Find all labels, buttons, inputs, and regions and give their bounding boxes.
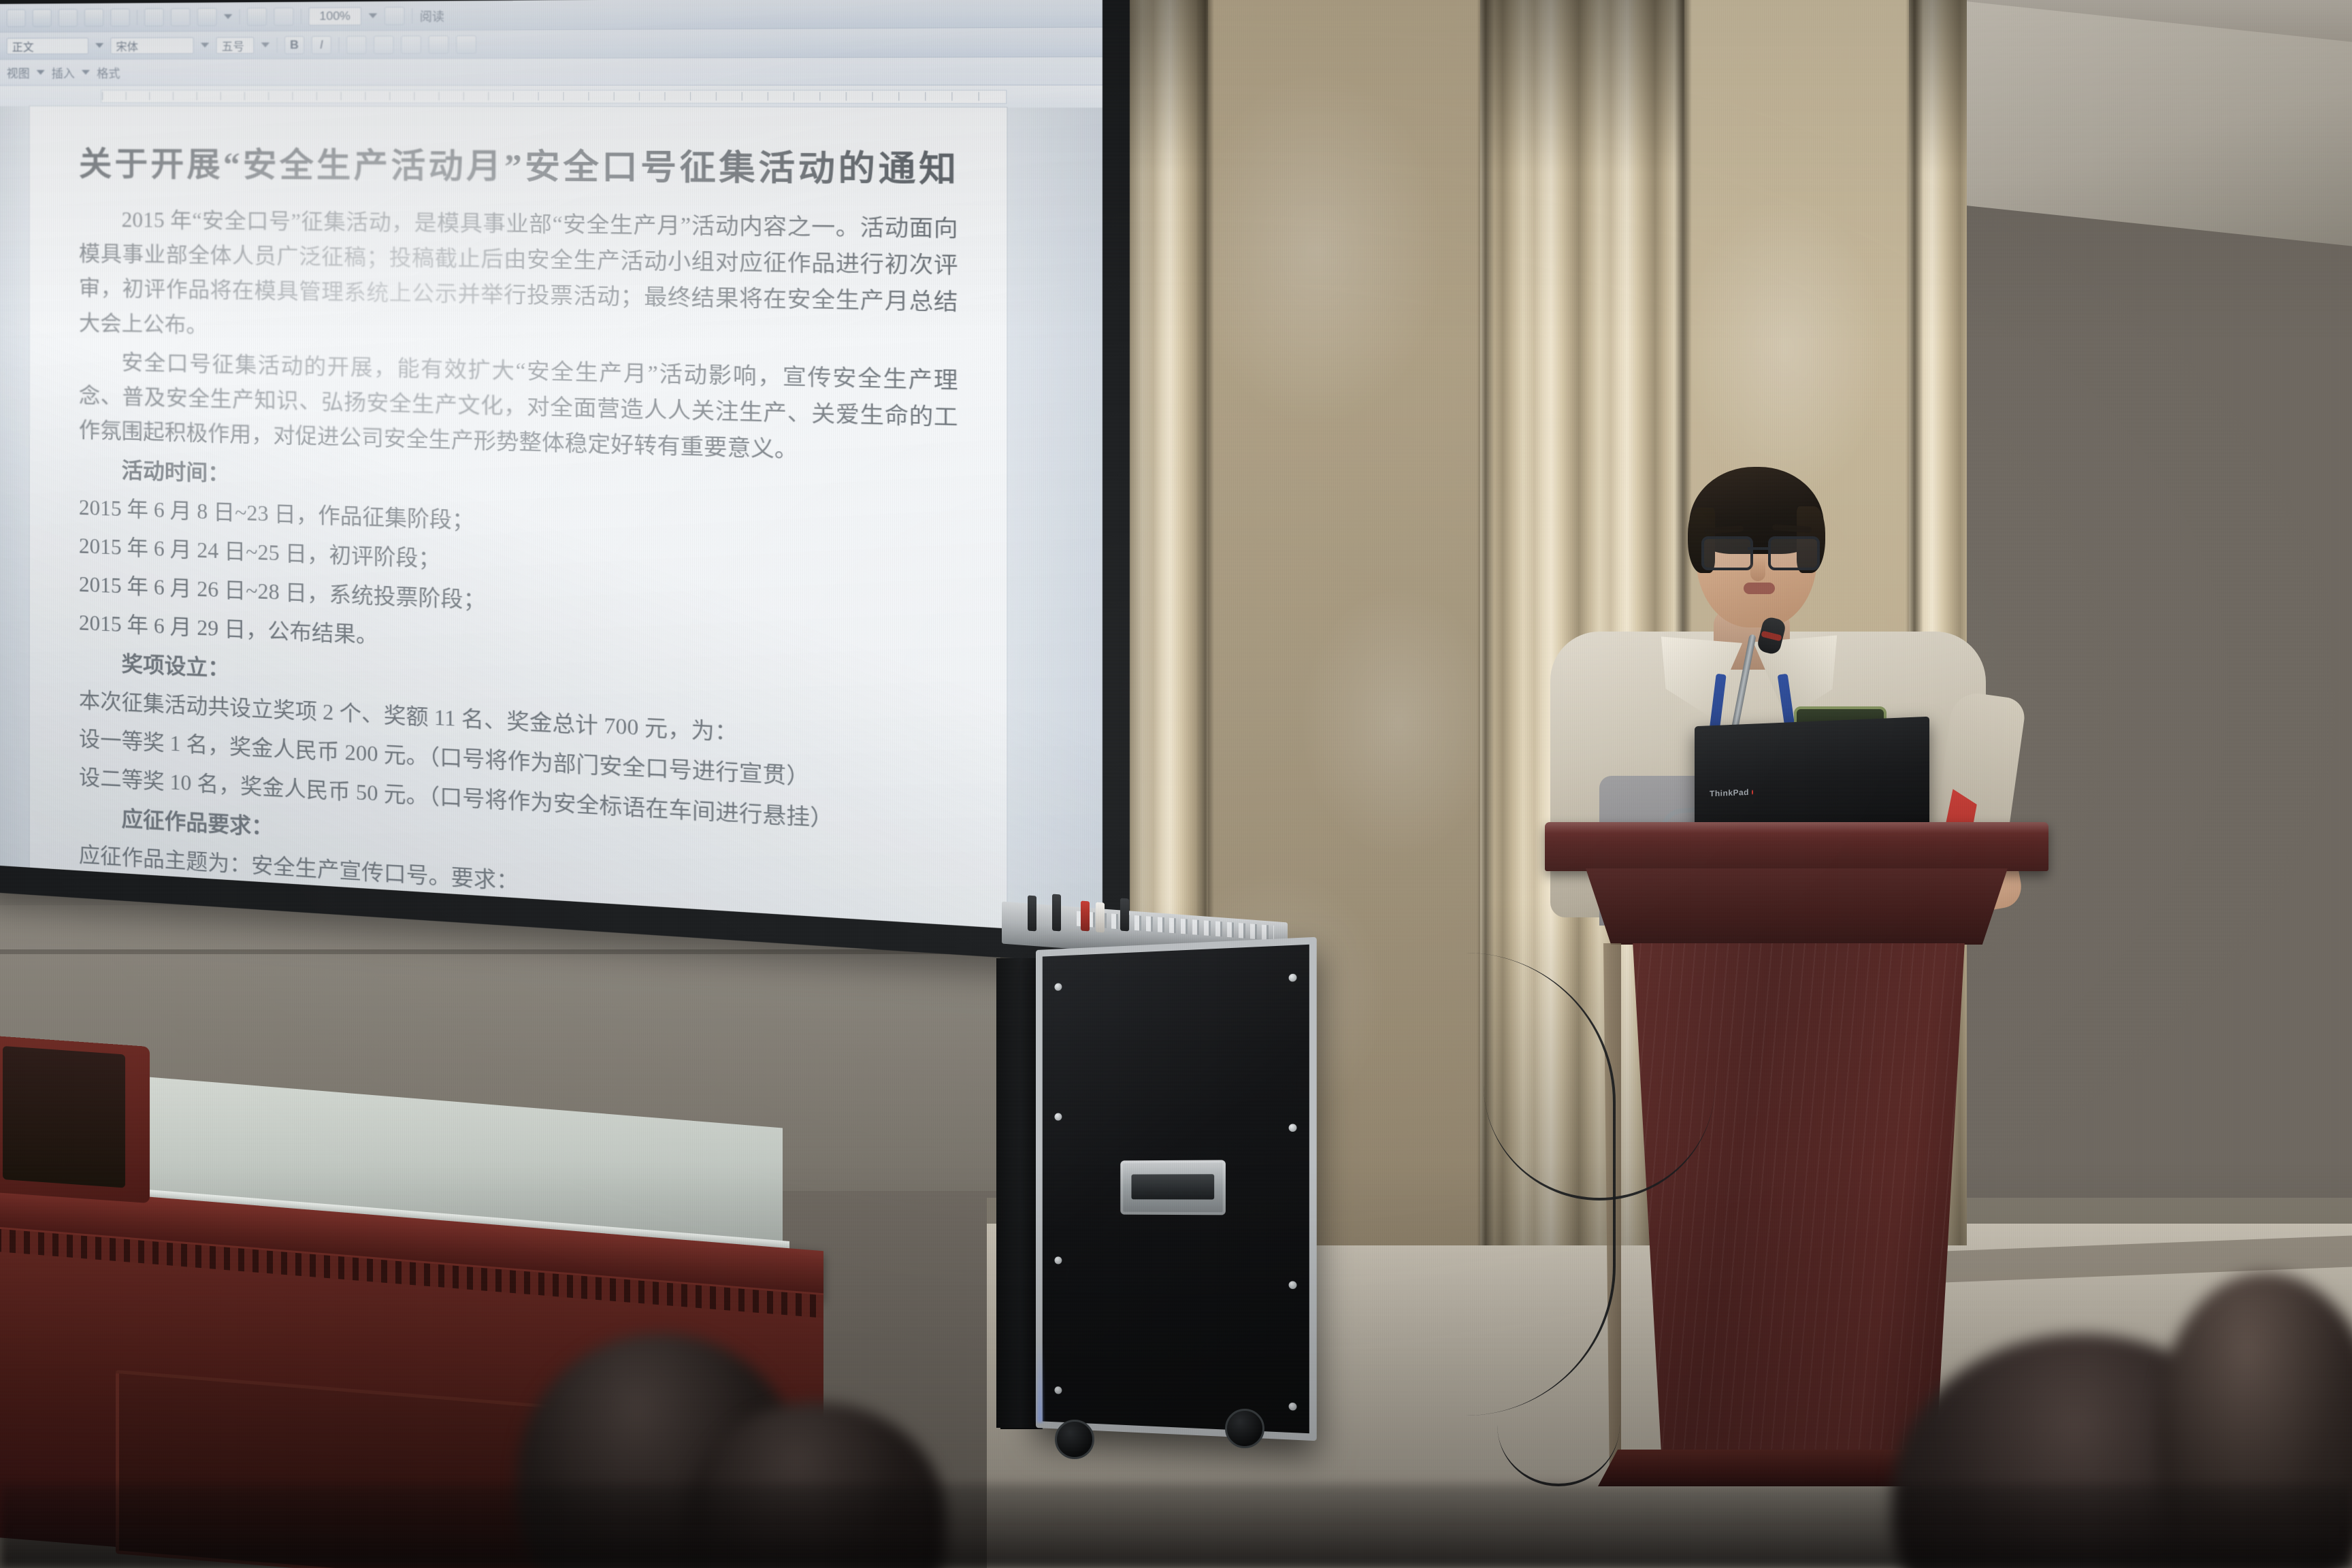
align-right-icon[interactable] (401, 35, 421, 54)
cable-jack-2 (1052, 894, 1061, 932)
rca-jack-white (1096, 902, 1105, 933)
align-left-icon[interactable] (346, 35, 366, 54)
font-name-box[interactable]: 宋体 (110, 37, 193, 54)
flight-case-handle[interactable] (1120, 1160, 1226, 1215)
thinkpad-logo: ThinkPad (1710, 787, 1753, 800)
document-page[interactable]: 关于开展“安全生产活动月”安全口号征集活动的通知 2015 年“安全口号”征集活… (30, 106, 1007, 928)
conference-chair (0, 1036, 150, 1203)
font-dropdown-icon[interactable] (201, 43, 209, 48)
document-paragraph-2: 安全口号征集活动的开展，能有效扩大“安全生产月”活动影响，宣传安全生产理念、普及… (79, 344, 958, 473)
foreground-shadow-band (0, 1484, 2352, 1568)
print-icon[interactable] (33, 9, 52, 27)
menu-insert-caret-icon (82, 70, 90, 75)
cable-jack-1 (1028, 896, 1036, 932)
rack-led-glow (1037, 1341, 1043, 1422)
rack-rivet (1289, 1281, 1297, 1289)
document-right-gutter (1007, 108, 1102, 934)
numbered-list-icon[interactable] (456, 35, 476, 53)
menu-item-insert[interactable]: 插入 (52, 64, 75, 81)
style-box[interactable]: 正文 (7, 37, 88, 54)
projection-screen-frame: 100% 阅读 正文 宋体 五号 B I (0, 0, 1130, 966)
laptop-brand-label: ThinkPad (1710, 787, 1749, 798)
rack-caster-wheel (1225, 1409, 1264, 1448)
print-preview-icon[interactable] (59, 9, 78, 27)
rack-rivet (1289, 1403, 1297, 1411)
cable-jack-3 (1120, 898, 1129, 932)
lectern-top-sheen (1545, 822, 2048, 833)
table-icon[interactable] (274, 7, 293, 26)
toolbar-separator-2 (240, 9, 240, 24)
document-left-gutter (0, 106, 30, 868)
glasses-lens-left (1701, 536, 1753, 570)
word-toolbar-formatting[interactable]: 正文 宋体 五号 B I (0, 27, 1102, 59)
toolbar-separator-6 (338, 37, 339, 52)
italic-button[interactable]: I (312, 35, 331, 54)
undo-dropdown-icon[interactable] (224, 14, 232, 19)
save-icon[interactable] (7, 9, 26, 27)
menu-view-caret-icon (37, 70, 45, 75)
power-cable-3 (1497, 1198, 1620, 1486)
document-title: 关于开展“安全生产活动月”安全口号征集活动的通知 (79, 137, 958, 191)
conference-room-photo: 100% 阅读 正文 宋体 五号 B I (0, 0, 2352, 1568)
bullet-list-icon[interactable] (429, 35, 449, 54)
hyperlink-icon[interactable] (247, 7, 267, 26)
help-icon[interactable] (385, 6, 405, 24)
zoom-dropdown-icon[interactable] (369, 14, 378, 18)
cut-icon[interactable] (144, 8, 164, 27)
handle-recess (1131, 1174, 1214, 1199)
toolbar-separator (137, 10, 137, 24)
rack-caster-wheel (1055, 1420, 1094, 1459)
chair-backrest (3, 1046, 125, 1188)
toolbar-separator-3 (301, 8, 301, 24)
rack-rivet (1054, 1113, 1062, 1120)
glasses-bridge (1748, 547, 1768, 550)
word-menu-bar[interactable]: 视图 插入 格式 (0, 57, 1102, 86)
mixer-knobs[interactable] (1077, 911, 1274, 941)
flight-case (1036, 937, 1317, 1441)
presenter-mouth (1744, 583, 1775, 594)
font-size-box[interactable]: 五号 (216, 37, 255, 54)
rack-rivet (1289, 1124, 1297, 1132)
research-icon[interactable] (110, 8, 129, 26)
read-mode-label[interactable]: 阅读 (420, 7, 444, 24)
rack-open-side (996, 958, 1041, 1428)
bold-button[interactable]: B (284, 35, 304, 54)
ruler-tick-marks (102, 92, 1005, 101)
menu-item-view[interactable]: 视图 (7, 64, 30, 81)
rack-rivet (1054, 1256, 1062, 1264)
rack-rivet (1054, 1386, 1062, 1394)
document-paragraph-1: 2015 年“安全口号”征集活动，是模具事业部“安全生产月”活动内容之一。活动面… (79, 202, 958, 357)
size-dropdown-icon[interactable] (261, 42, 269, 47)
presenter-nose (1750, 557, 1765, 581)
spellcheck-icon[interactable] (84, 8, 103, 26)
undo-icon[interactable] (197, 7, 217, 26)
toolbar-separator-5 (277, 37, 278, 53)
document-text-body: 关于开展“安全生产活动月”安全口号征集活动的通知 2015 年“安全口号”征集活… (79, 137, 958, 929)
align-center-icon[interactable] (374, 35, 394, 54)
toolbar-separator-4 (412, 7, 412, 23)
zoom-level-box[interactable]: 100% (308, 7, 361, 25)
rca-jack-red (1081, 901, 1090, 932)
horizontal-ruler[interactable] (0, 86, 1102, 109)
menu-item-format[interactable]: 格式 (97, 64, 120, 81)
audio-equipment-rack (1000, 905, 1382, 1463)
projection-screen-surface: 100% 阅读 正文 宋体 五号 B I (0, 0, 1102, 934)
thinkpad-red-dot-icon (1752, 789, 1753, 794)
ceiling-right-soffit (1953, 0, 2352, 246)
copy-icon[interactable] (171, 7, 191, 26)
style-dropdown-icon[interactable] (95, 43, 103, 48)
glasses-lens-right (1768, 536, 1820, 570)
